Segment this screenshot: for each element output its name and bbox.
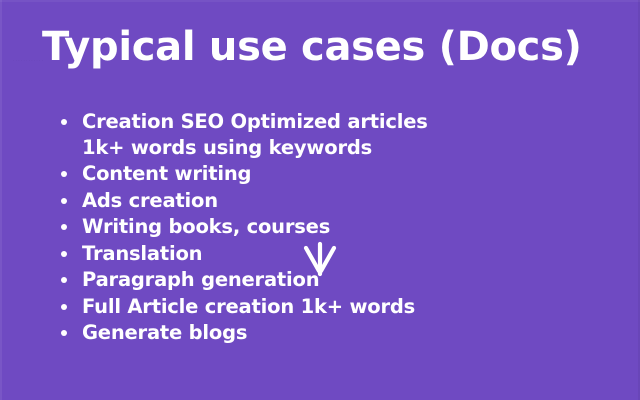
list-item-label: Translation (82, 241, 576, 267)
list-item-label: Ads creation (82, 188, 576, 214)
bullet-dot-icon (61, 304, 67, 310)
use-cases-list: Creation SEO Optimized articles 1k+ word… (56, 109, 576, 347)
list-item: Generate blogs (56, 320, 576, 346)
list-item-label: Creation SEO Optimized articles (82, 109, 576, 135)
bullet-dot-icon (61, 330, 67, 336)
list-item: Full Article creation 1k+ words (56, 294, 576, 320)
slide-edge-left (0, 0, 2, 400)
list-item-label: Full Article creation 1k+ words (82, 294, 576, 320)
bullet-dot-icon (61, 224, 67, 230)
list-item-label-continued: 1k+ words using keywords (82, 135, 576, 161)
list-item: Paragraph generation (56, 267, 576, 293)
list-item: Creation SEO Optimized articles 1k+ word… (56, 109, 576, 160)
presentation-slide: ............ Typical use cases (Docs) Cr… (0, 0, 640, 400)
list-item-label: Generate blogs (82, 320, 576, 346)
list-item: Translation (56, 241, 576, 267)
slide-edge-top (0, 0, 640, 2)
faint-watermark: ............ (13, 57, 43, 64)
list-item-label: Writing books, courses (82, 214, 576, 240)
list-item-label: Content writing (82, 161, 576, 187)
bullet-dot-icon (61, 171, 67, 177)
slide-title: Typical use cases (Docs) (42, 21, 582, 73)
list-item: Ads creation (56, 188, 576, 214)
bullet-dot-icon (61, 277, 67, 283)
list-item: Writing books, courses (56, 214, 576, 240)
bullet-dot-icon (61, 251, 67, 257)
bullet-dot-icon (61, 119, 67, 125)
bullet-dot-icon (61, 198, 67, 204)
list-item: Content writing (56, 161, 576, 187)
list-item-label: Paragraph generation (82, 267, 576, 293)
